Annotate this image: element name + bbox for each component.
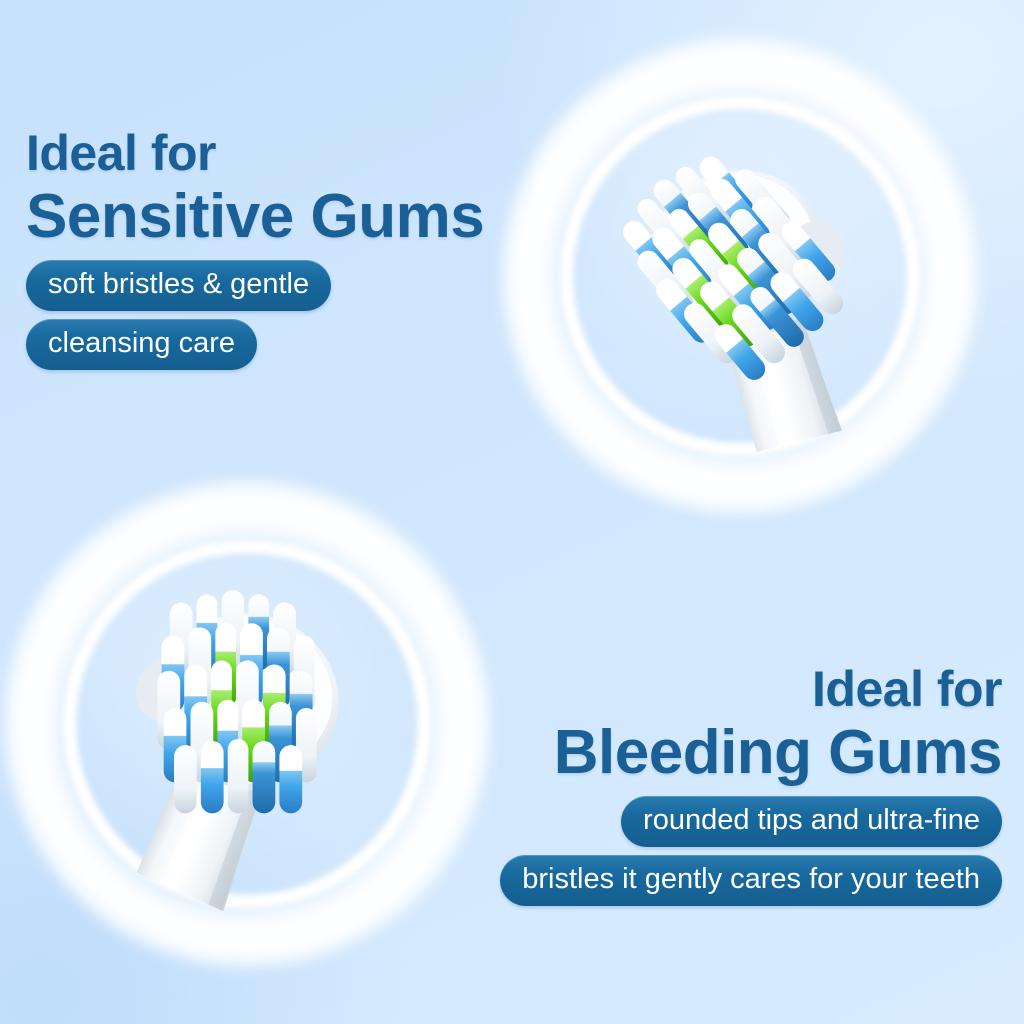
toothbrush-head-bleeding: [95, 560, 405, 910]
heading-line2-sensitive: Sensitive Gums: [26, 186, 484, 248]
pill-bleeding-2: bristles it gently cares for your teeth: [500, 855, 1002, 906]
panel-sensitive-gums-text: Ideal for Sensitive Gums soft bristles &…: [26, 128, 484, 370]
product-feature-graphic: Ideal for Sensitive Gums soft bristles &…: [0, 0, 1024, 1024]
pill-bleeding-1: rounded tips and ultra-fine: [621, 796, 1002, 847]
pill-list-bleeding: rounded tips and ultra-fine bristles it …: [500, 796, 1002, 906]
toothbrush-head-sensitive: [600, 118, 900, 448]
heading-line1-sensitive: Ideal for: [26, 128, 484, 178]
heading-line2-bleeding: Bleeding Gums: [500, 722, 1002, 784]
pill-sensitive-1: soft bristles & gentle: [26, 260, 331, 311]
pill-list-sensitive: soft bristles & gentle cleansing care: [26, 260, 484, 370]
panel-bleeding-gums-text: Ideal for Bleeding Gums rounded tips and…: [500, 664, 1002, 906]
heading-line1-bleeding: Ideal for: [500, 664, 1002, 714]
pill-sensitive-2: cleansing care: [26, 319, 257, 370]
